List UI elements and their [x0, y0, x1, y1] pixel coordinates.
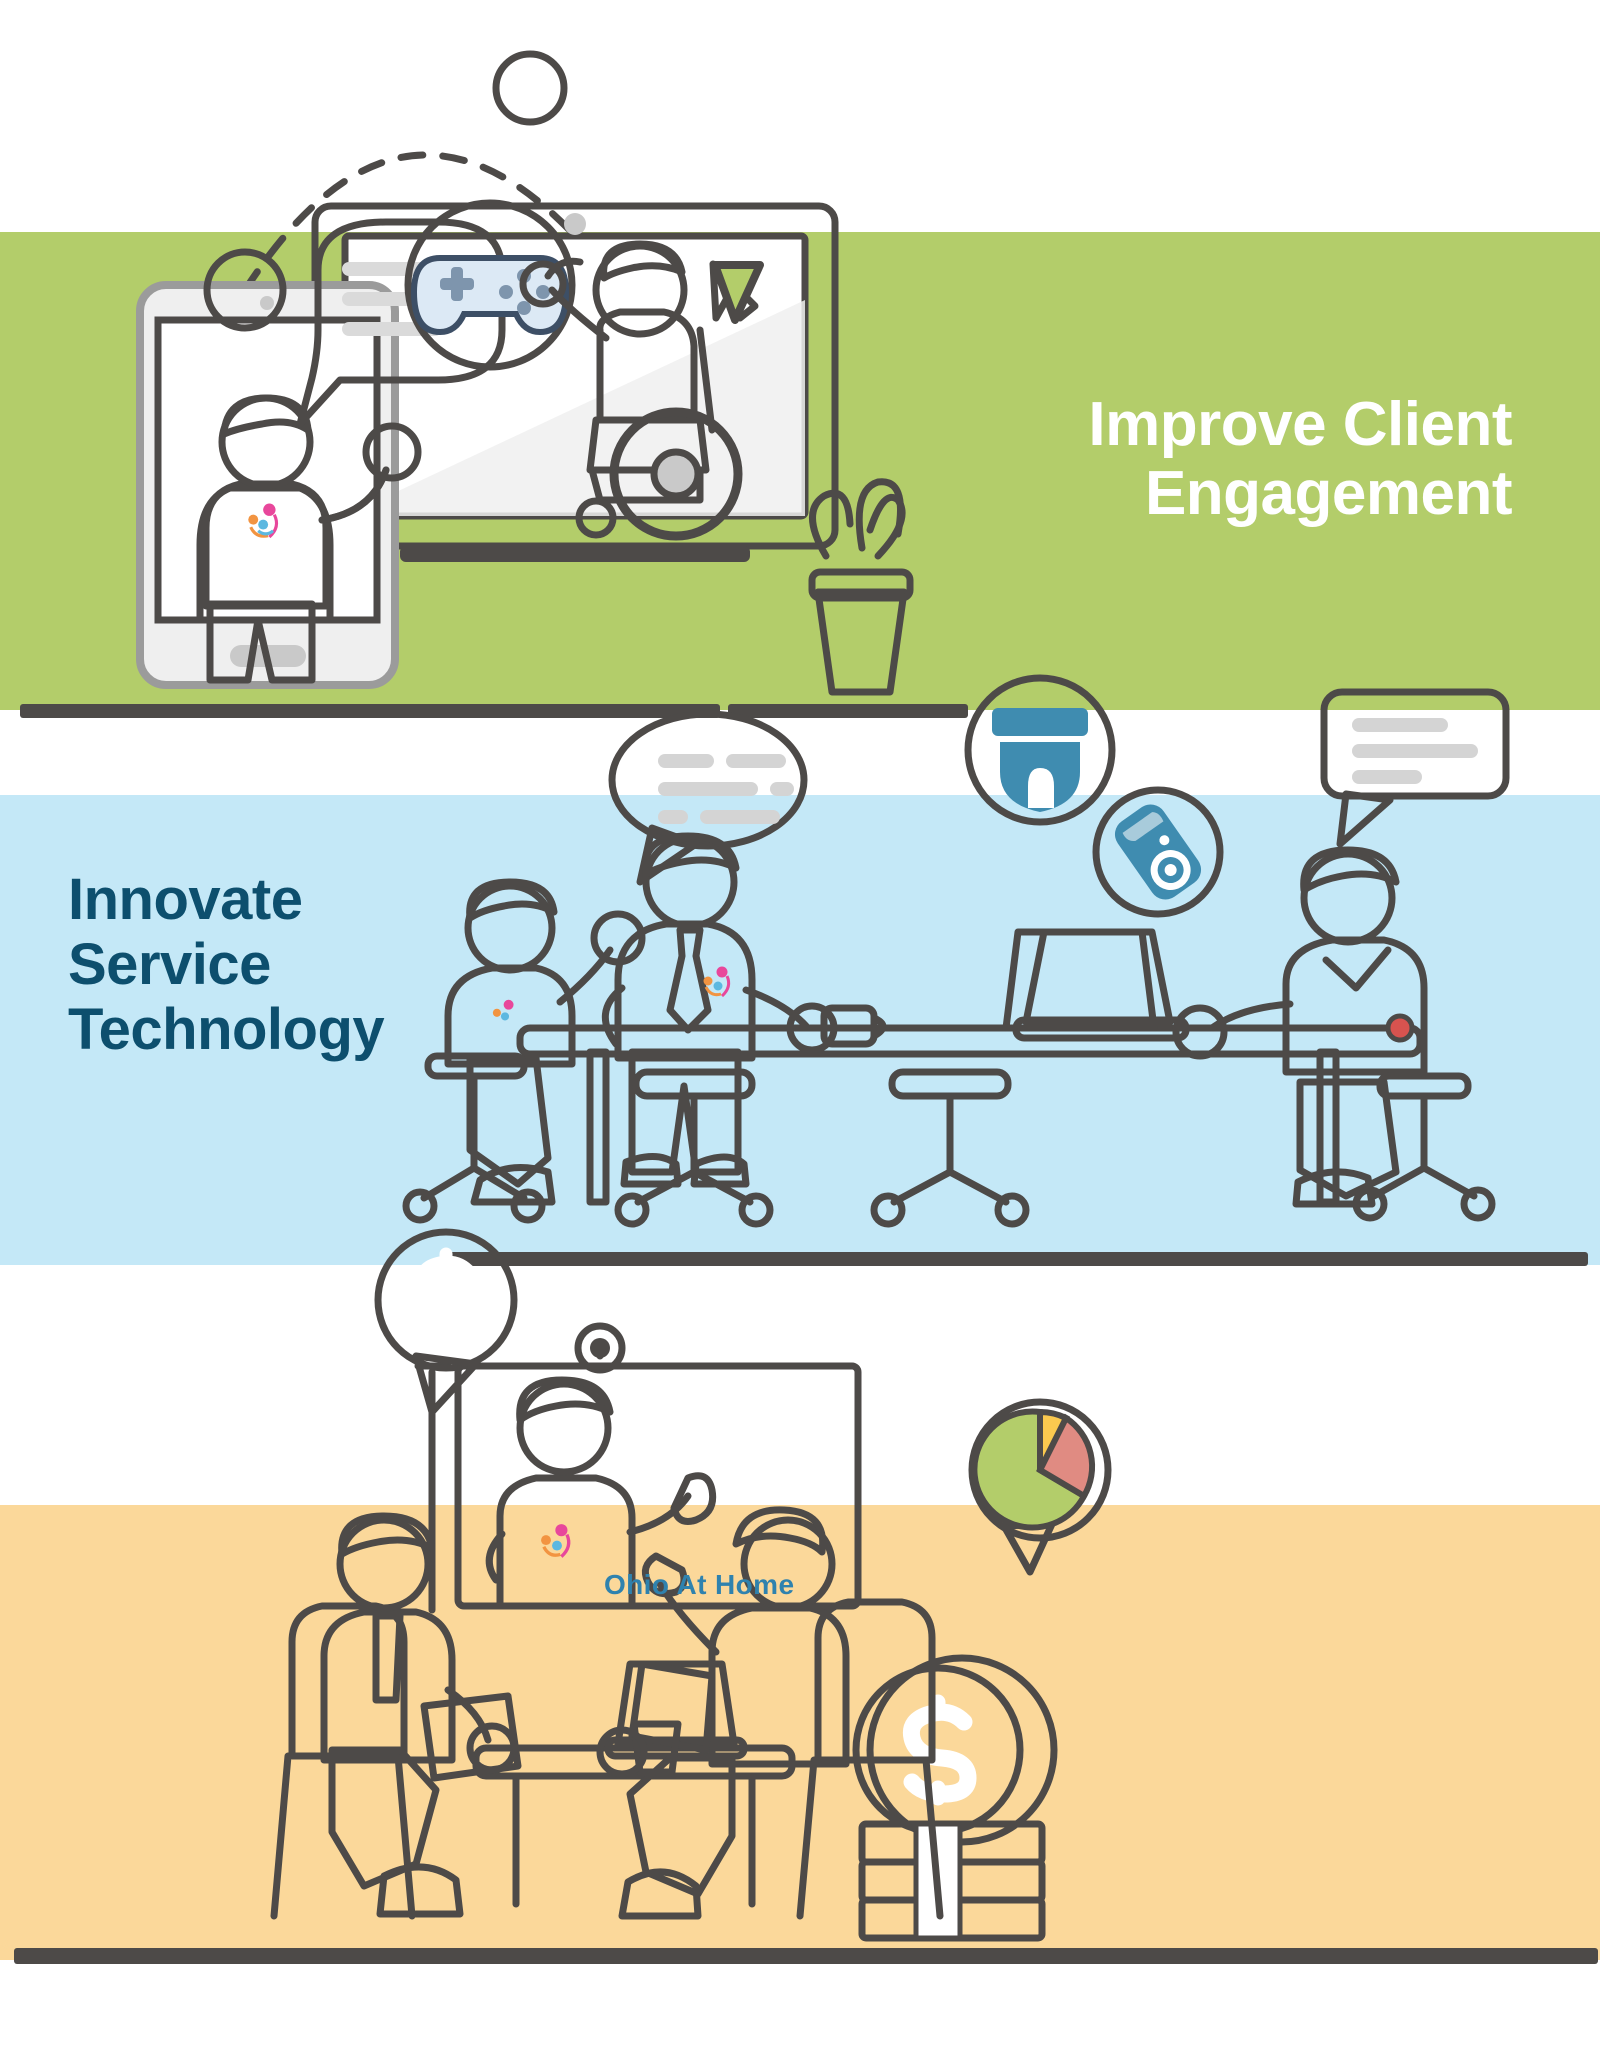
heading-improve-client-engagement: Improve Client Engagement	[872, 390, 1512, 529]
motion-sensor-icon	[1096, 790, 1220, 914]
illustration-improve-client-engagement	[0, 0, 1000, 740]
ohio-at-home-logo	[541, 1524, 569, 1556]
presentation-screen-icon	[418, 1326, 858, 1610]
pie-chart-bubble-icon	[972, 1402, 1108, 1572]
infographic-canvas: Improve Client Engagement	[0, 0, 1600, 2048]
office-stool-icon	[618, 1072, 770, 1224]
illustration-grow-revenue	[340, 1320, 1600, 1960]
laptop-icon	[1040, 940, 1156, 1012]
illustration-innovate-service-technology	[440, 790, 1600, 1270]
office-stool-icon	[874, 1072, 1026, 1224]
dollar-coin-icon	[856, 1658, 1054, 1842]
presentation-screen-label: Ohio At Home	[604, 1569, 794, 1601]
mid-green-dot	[496, 54, 564, 122]
heading-innovate-service-technology: Innovate Service Technology	[68, 868, 528, 1063]
chat-bubble-icon	[1324, 692, 1506, 844]
ohio-at-home-logo	[704, 967, 729, 997]
presenter-center-figure	[605, 836, 834, 1184]
money-stack-icon	[862, 1824, 1042, 1938]
